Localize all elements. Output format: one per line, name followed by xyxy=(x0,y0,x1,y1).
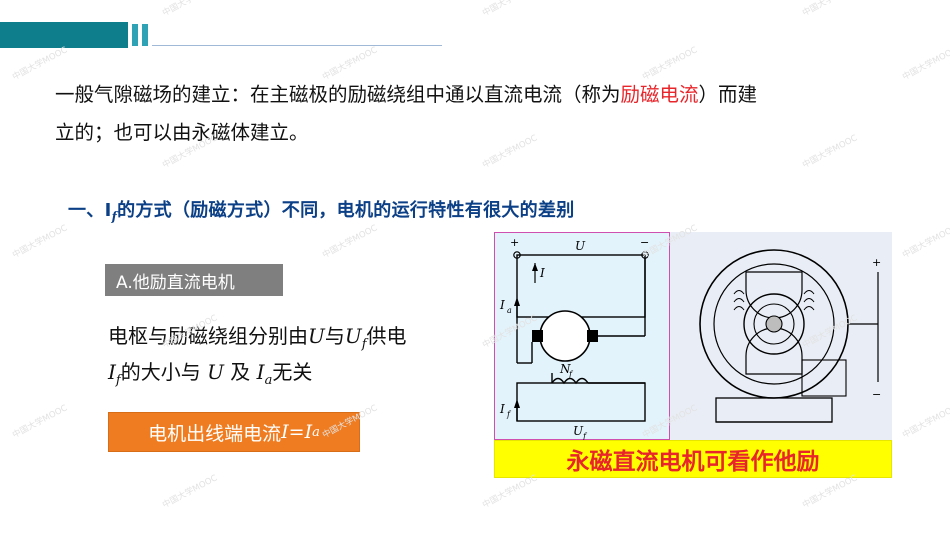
header-rule xyxy=(152,45,442,46)
topic-label-box: A.他励直流电机 xyxy=(105,264,283,296)
orange-symbol-i: I xyxy=(281,421,289,443)
svg-text:I: I xyxy=(499,402,505,416)
orange-symbol-ia: I xyxy=(305,421,313,443)
paragraph-line-2: 立的；也可以由永磁体建立。 xyxy=(55,121,309,144)
line1-text-c: 供电 xyxy=(367,324,407,348)
svg-text:f: f xyxy=(506,410,512,419)
line2-text-a: 的大小与 xyxy=(121,360,207,384)
svg-text:a: a xyxy=(507,306,512,315)
line2-symbol-ia: I xyxy=(257,360,265,384)
top-decoration-bar xyxy=(0,22,950,48)
topic-label-text: A.他励直流电机 xyxy=(116,268,235,293)
heading-suffix: 的方式（励磁方式）不同，电机的运行特性有很大的差别 xyxy=(117,200,575,221)
machine-cross-section-panel: + − xyxy=(674,232,892,440)
orange-text-a: 电机出线端电流 xyxy=(148,419,281,446)
svg-text:+: + xyxy=(872,256,881,269)
watermark-text: 中国大学MOOC xyxy=(10,222,69,261)
description-line-1: 电枢与励磁绕组分别由U与Uf供电 xyxy=(108,320,407,352)
watermark-text: 中国大学MOOC xyxy=(800,0,859,19)
machine-svg: + − xyxy=(674,232,892,440)
teal-block xyxy=(0,22,128,48)
svg-text:I: I xyxy=(539,266,545,280)
line1-symbol-uf: U xyxy=(345,324,362,348)
line1-text-a: 电枢与励磁绕组分别由 xyxy=(108,324,308,348)
slide-root: 一般气隙磁场的建立：在主磁极的励磁绕组中通以直流电流（称为励磁电流）而建 立的；… xyxy=(0,0,950,535)
svg-text:I: I xyxy=(499,298,505,312)
line2-text-c: 无关 xyxy=(272,360,312,384)
watermark-text: 中国大学MOOC xyxy=(160,0,219,19)
watermark-text: 中国大学MOOC xyxy=(900,222,950,261)
circuit-svg: + − U I I a xyxy=(495,233,671,441)
description-line-2: If的大小与 U 及 Ia无关 xyxy=(108,356,312,388)
circuit-diagram-panel: + − U I I a xyxy=(494,232,670,440)
terminal-current-box: 电机出线端电流 I= Ia xyxy=(108,412,360,452)
watermark-text: 中国大学MOOC xyxy=(160,472,219,511)
permanent-magnet-note-box: 永磁直流电机可看作他励 xyxy=(494,440,892,478)
section-heading: 一、If的方式（励磁方式）不同，电机的运行特性有很大的差别 xyxy=(68,196,575,224)
svg-text:−: − xyxy=(872,388,881,401)
watermark-text: 中国大学MOOC xyxy=(480,0,539,19)
orange-symbol-ia-sub: a xyxy=(312,425,320,440)
line1-text-b: 与 xyxy=(325,324,345,348)
line2-symbol-i: I xyxy=(108,360,116,384)
paragraph-part-2: ）而建 xyxy=(699,83,758,106)
intro-paragraph: 一般气隙磁场的建立：在主磁极的励磁绕组中通以直流电流（称为励磁电流）而建 立的；… xyxy=(55,76,915,152)
svg-text:+: + xyxy=(510,236,519,249)
line2-symbol-u: U xyxy=(207,360,224,384)
figure-container: + − U I I a xyxy=(494,232,892,440)
watermark-text: 中国大学MOOC xyxy=(10,402,69,441)
watermark-text: 中国大学MOOC xyxy=(900,402,950,441)
heading-prefix: 一、I xyxy=(68,200,112,221)
paragraph-part-1: 一般气隙磁场的建立：在主磁极的励磁绕组中通以直流电流（称为 xyxy=(55,83,621,106)
line2-text-b: 及 xyxy=(224,360,257,384)
svg-text:U: U xyxy=(575,239,586,253)
yellow-note-text: 永磁直流电机可看作他励 xyxy=(567,442,820,476)
svg-text:−: − xyxy=(640,236,649,249)
line1-symbol-u: U xyxy=(308,324,325,348)
tick-mark-2 xyxy=(142,24,148,46)
paragraph-highlight: 励磁电流 xyxy=(621,83,699,106)
tick-mark-1 xyxy=(132,24,138,46)
watermark-text: 中国大学MOOC xyxy=(320,222,379,261)
svg-text:f: f xyxy=(568,370,574,379)
orange-equals: = xyxy=(289,421,305,443)
